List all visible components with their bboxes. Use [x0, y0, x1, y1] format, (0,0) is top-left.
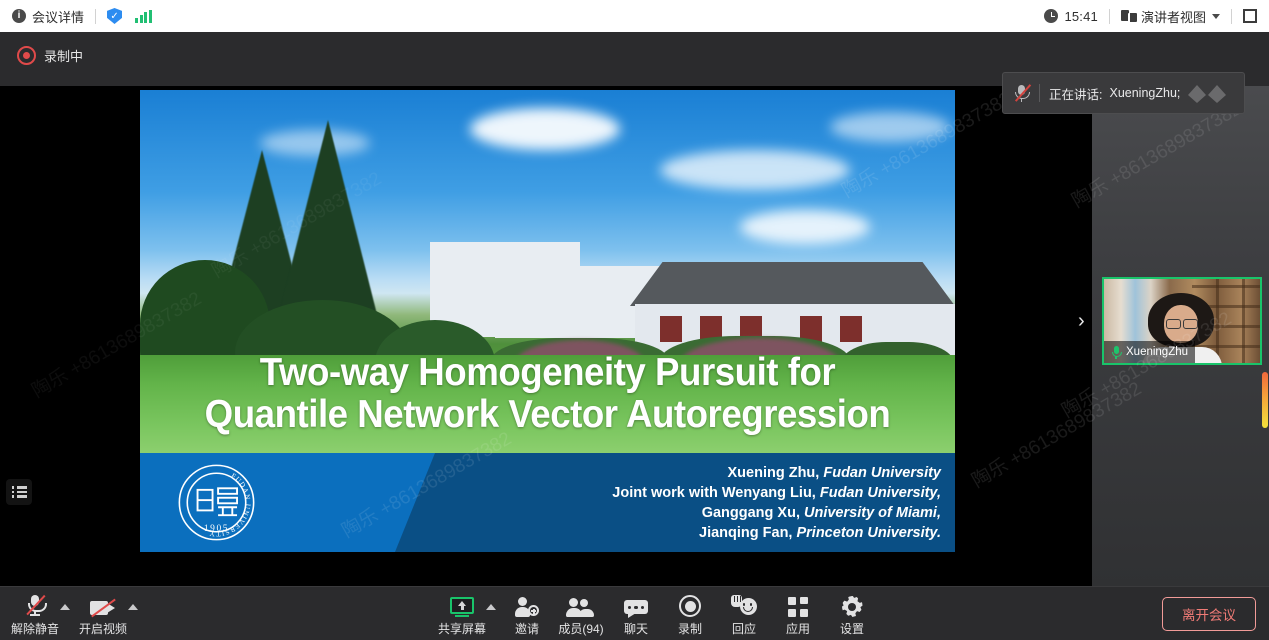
author-line-3: Ganggang Xu, University of Miami, [612, 503, 941, 523]
reactions-icon [731, 595, 757, 617]
participants-icon [568, 597, 594, 617]
mic-on-icon [1111, 345, 1121, 359]
fudan-university-seal-icon: FUDAN UNIVERSITY 1905 [177, 463, 256, 542]
author-line-4: Jianqing Fan, Princeton University. [612, 523, 941, 543]
toolbar-label-share: 共享屏幕 [438, 620, 486, 637]
header-divider-2 [1109, 9, 1110, 24]
chat-bubble-icon [624, 600, 648, 617]
presentation-slide: Two-way Homogeneity Pursuit for Quantile… [140, 90, 955, 552]
speaker-divider [1039, 84, 1040, 102]
record-dot-icon [17, 46, 36, 65]
view-mode-label: 演讲者视图 [1141, 7, 1206, 26]
toolbar-label-members: 成员(94) [558, 620, 603, 637]
toolbar-item-share[interactable]: 共享屏幕 [430, 591, 494, 637]
bottom-toolbar: 解除静音 开启视频 共享屏幕 [0, 586, 1269, 640]
toolbar-item-unmute[interactable]: 解除静音 [3, 591, 67, 637]
gear-icon [842, 596, 863, 617]
slide-footer-band: FUDAN UNIVERSITY 1905 Xuening Zhu, Fudan… [140, 453, 955, 552]
signal-bars-icon[interactable] [135, 10, 152, 23]
author-line-1: Xuening Zhu, Fudan University [612, 463, 941, 483]
active-speaker-banner: 正在讲话: XueningZhu; [1002, 72, 1245, 114]
meeting-window: i 会议详情 ✓ 15:41 演讲者视图 [0, 0, 1269, 640]
list-view-icon[interactable] [6, 479, 32, 505]
chevron-down-icon [1212, 14, 1220, 19]
toolbar-label-chat: 聊天 [624, 620, 648, 637]
speaking-label: 正在讲话: [1049, 84, 1102, 103]
header-divider-3 [1231, 9, 1232, 24]
recording-indicator[interactable]: 录制中 [17, 46, 83, 65]
mic-muted-icon [1013, 83, 1030, 103]
presenter-view-icon [1121, 9, 1135, 23]
toolbar-label-record: 录制 [678, 620, 702, 637]
toolbar-label-video: 开启视频 [79, 620, 127, 637]
author-line-2: Joint work with Wenyang Liu, Fudan Unive… [612, 483, 941, 503]
toolbar-label-unmute: 解除静音 [11, 620, 59, 637]
top-header-bar: i 会议详情 ✓ 15:41 演讲者视图 [0, 0, 1269, 32]
toolbar-item-settings[interactable]: 设置 [820, 591, 884, 637]
shared-screen-stage: Two-way Homogeneity Pursuit for Quantile… [0, 86, 1092, 586]
video-options-caret[interactable] [128, 604, 138, 610]
recording-label: 录制中 [44, 46, 83, 65]
fullscreen-icon[interactable] [1243, 9, 1257, 23]
toolbar-label-apps: 应用 [786, 620, 810, 637]
meeting-timer: 15:41 [1044, 9, 1098, 24]
toolbar-item-video[interactable]: 开启视频 [71, 591, 135, 637]
invite-person-icon [515, 597, 539, 617]
recording-strip: 录制中 正在讲话: XueningZhu; [0, 32, 1269, 86]
slide-title-line-2: Quantile Network Vector Autoregression [164, 394, 930, 436]
shield-check-icon[interactable]: ✓ [107, 8, 122, 24]
slide-title-line-1: Two-way Homogeneity Pursuit for [260, 351, 835, 394]
participant-name: XueningZhu [1126, 346, 1188, 358]
apps-grid-icon [788, 597, 808, 617]
video-strip-scrollbar[interactable] [1262, 372, 1268, 428]
share-screen-icon [450, 597, 474, 617]
elapsed-time: 15:41 [1064, 9, 1098, 24]
audio-options-caret[interactable] [60, 604, 70, 610]
clock-icon [1044, 9, 1058, 23]
speaking-name: XueningZhu; [1109, 86, 1180, 100]
participant-video-thumbnail[interactable]: XueningZhu [1102, 277, 1262, 365]
meeting-details-button[interactable]: i 会议详情 [12, 7, 84, 26]
record-circle-icon [679, 595, 701, 617]
mic-muted-icon [25, 593, 45, 617]
view-mode-selector[interactable]: 演讲者视图 [1121, 7, 1220, 26]
header-divider-1 [95, 9, 96, 24]
meeting-details-label: 会议详情 [32, 7, 84, 26]
leave-meeting-button[interactable]: 离开会议 [1162, 597, 1256, 631]
slide-title: Two-way Homogeneity Pursuit for Quantile… [164, 352, 930, 436]
toolbar-label-invite: 邀请 [515, 620, 539, 637]
info-icon: i [12, 9, 26, 23]
chevron-right-icon[interactable]: › [1078, 310, 1092, 332]
slide-authors: Xuening Zhu, Fudan University Joint work… [612, 463, 941, 543]
toolbar-label-settings: 设置 [840, 620, 864, 637]
svg-text:1905: 1905 [204, 524, 229, 534]
toolbar-label-react: 回应 [732, 620, 756, 637]
audio-wave-icon [1186, 81, 1238, 105]
thumbnail-name-overlay: XueningZhu [1104, 341, 1195, 363]
camera-off-icon [90, 599, 116, 617]
